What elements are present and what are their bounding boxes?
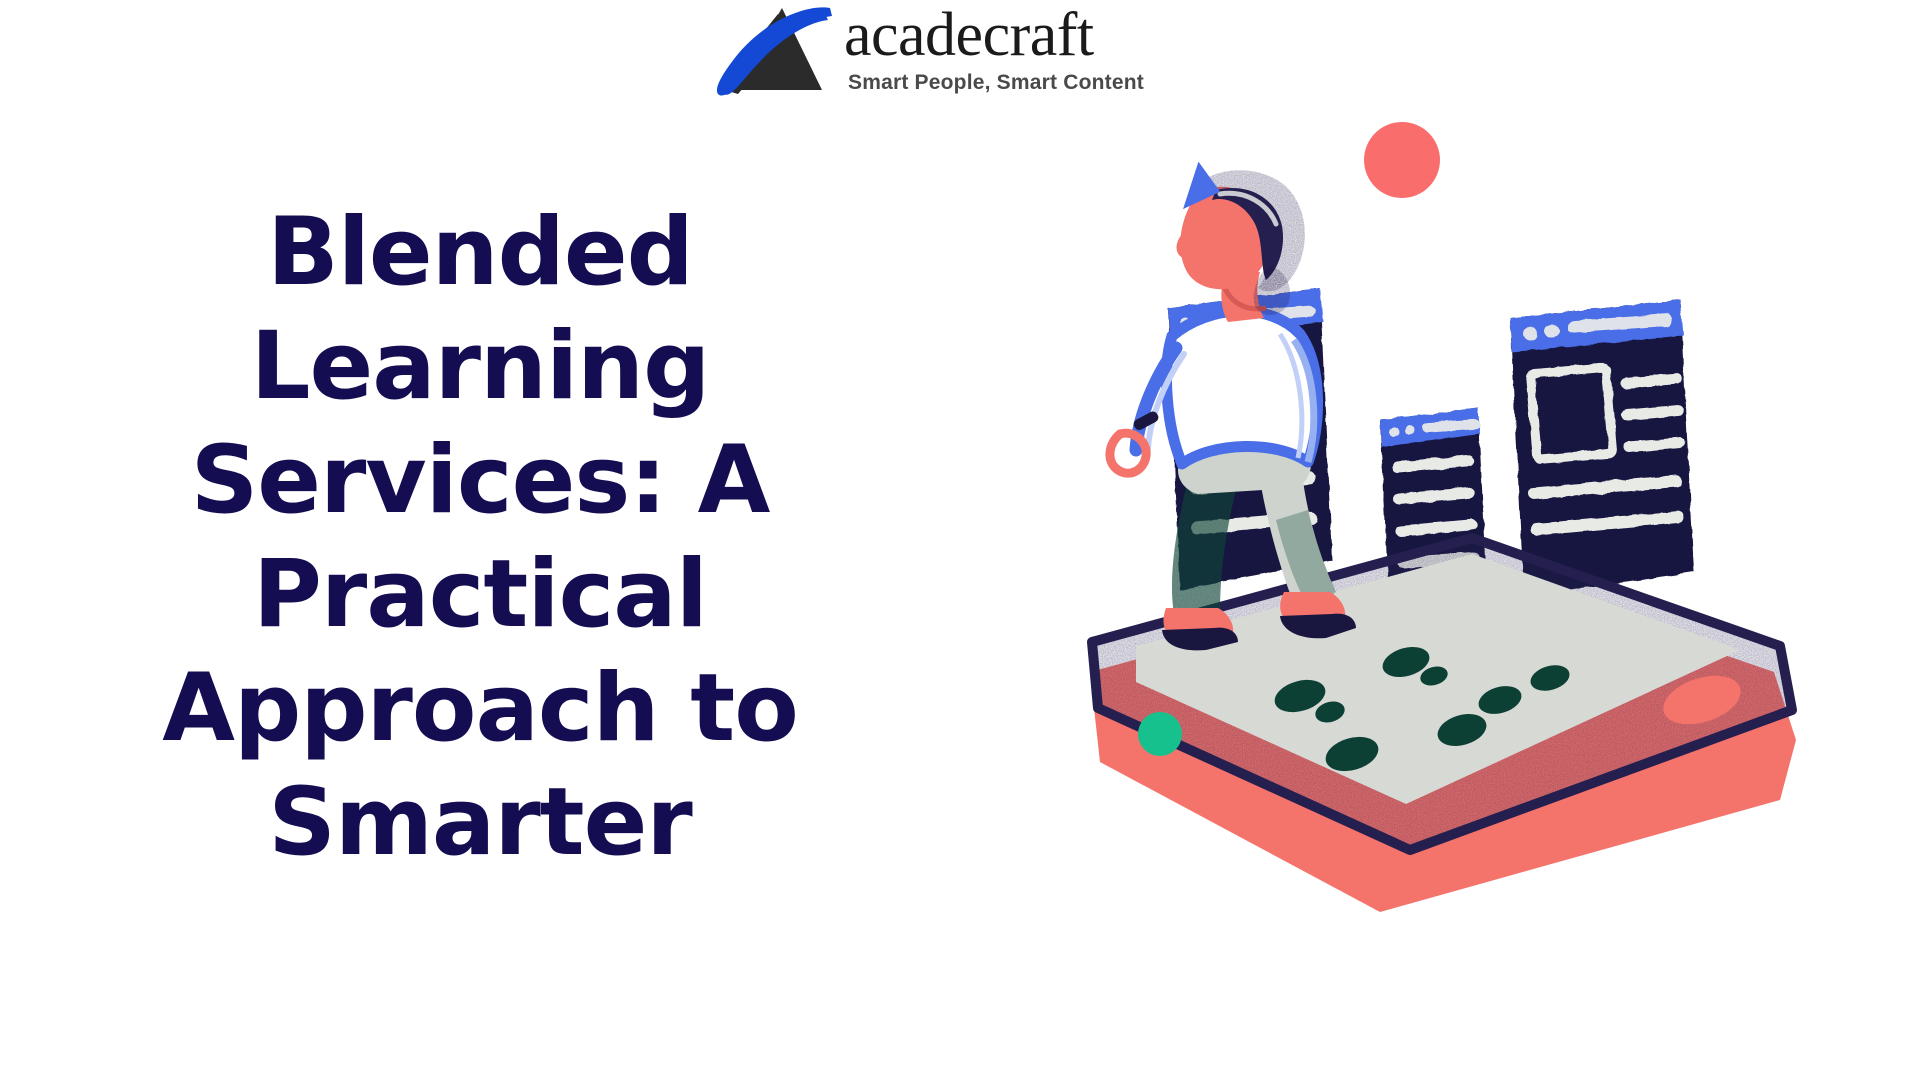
teal-circle-icon bbox=[1138, 712, 1182, 756]
acadecraft-logo[interactable]: acadecraft Smart People, Smart Content bbox=[704, 0, 1216, 104]
browser-window-right bbox=[1510, 300, 1694, 596]
coral-circle-icon bbox=[1364, 122, 1440, 198]
acadecraft-swoosh-mountain-logo-icon bbox=[704, 2, 844, 98]
logo-wordmark: acadecraft bbox=[844, 4, 1144, 66]
logo-text-block: acadecraft Smart People, Smart Content bbox=[844, 2, 1144, 95]
page-title: Blended Learning Services: A Practical A… bbox=[60, 196, 900, 880]
hero-illustration bbox=[1080, 90, 1920, 990]
